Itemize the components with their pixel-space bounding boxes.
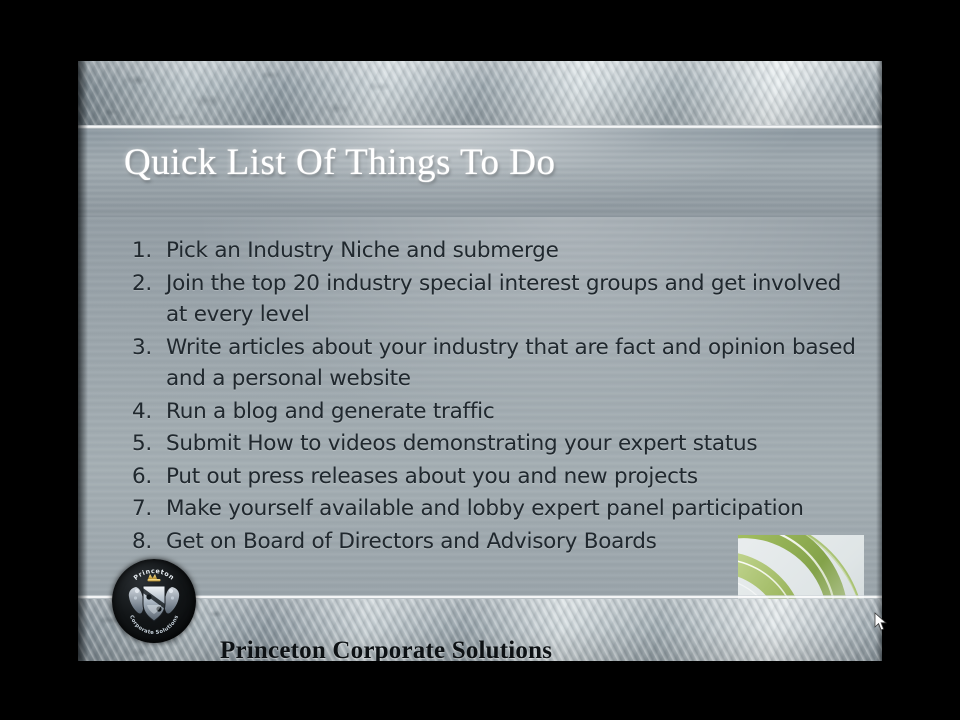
numbered-list: 1.Pick an Industry Niche and submerge2.J… xyxy=(118,235,868,558)
list-item-number: 4. xyxy=(118,396,152,428)
list-item-text: Get on Board of Directors and Advisory B… xyxy=(166,529,657,554)
list-item-text: Put out press releases about you and new… xyxy=(166,464,698,489)
list-item-number: 3. xyxy=(118,332,152,364)
company-logo: Princeton Corporate Solutions xyxy=(112,559,196,643)
footer-company-name: Princeton Corporate Solutions xyxy=(220,637,552,661)
list-item-text: Submit How to videos demonstrating your … xyxy=(166,431,757,456)
list-item: 3.Write articles about your industry tha… xyxy=(118,332,868,395)
page-title: Quick List Of Things To Do xyxy=(124,141,555,184)
list-item: 5.Submit How to videos demonstrating you… xyxy=(118,428,868,460)
list-item-number: 8. xyxy=(118,526,152,558)
list-item-text: Write articles about your industry that … xyxy=(166,335,856,392)
list-item: 1.Pick an Industry Niche and submerge xyxy=(118,235,868,267)
list-item-number: 2. xyxy=(118,268,152,300)
list-item-number: 1. xyxy=(118,235,152,267)
metal-hammered-texture xyxy=(78,61,496,125)
list-item-text: Join the top 20 industry special interes… xyxy=(166,271,841,328)
presentation-slide: Quick List Of Things To Do 1.Pick an Ind… xyxy=(78,61,882,661)
list-item: 7.Make yourself available and lobby expe… xyxy=(118,493,868,525)
video-player-stage: Quick List Of Things To Do 1.Pick an Ind… xyxy=(0,0,960,720)
list-item: 4.Run a blog and generate traffic xyxy=(118,396,868,428)
list-item-text: Run a blog and generate traffic xyxy=(166,399,494,424)
list-item-number: 6. xyxy=(118,461,152,493)
list-item: 2.Join the top 20 industry special inter… xyxy=(118,268,868,331)
list-item: 6.Put out press releases about you and n… xyxy=(118,461,868,493)
list-item-text: Make yourself available and lobby expert… xyxy=(166,496,804,521)
slide-footer-metal-band: Princeton Corporate Solutions Princeton … xyxy=(78,599,882,661)
list-item-number: 7. xyxy=(118,493,152,525)
list-item-number: 5. xyxy=(118,428,152,460)
list-item-text: Pick an Industry Niche and submerge xyxy=(166,238,559,263)
slide-header-metal-band xyxy=(78,61,882,125)
slide-title-plate: Quick List Of Things To Do xyxy=(78,129,882,217)
